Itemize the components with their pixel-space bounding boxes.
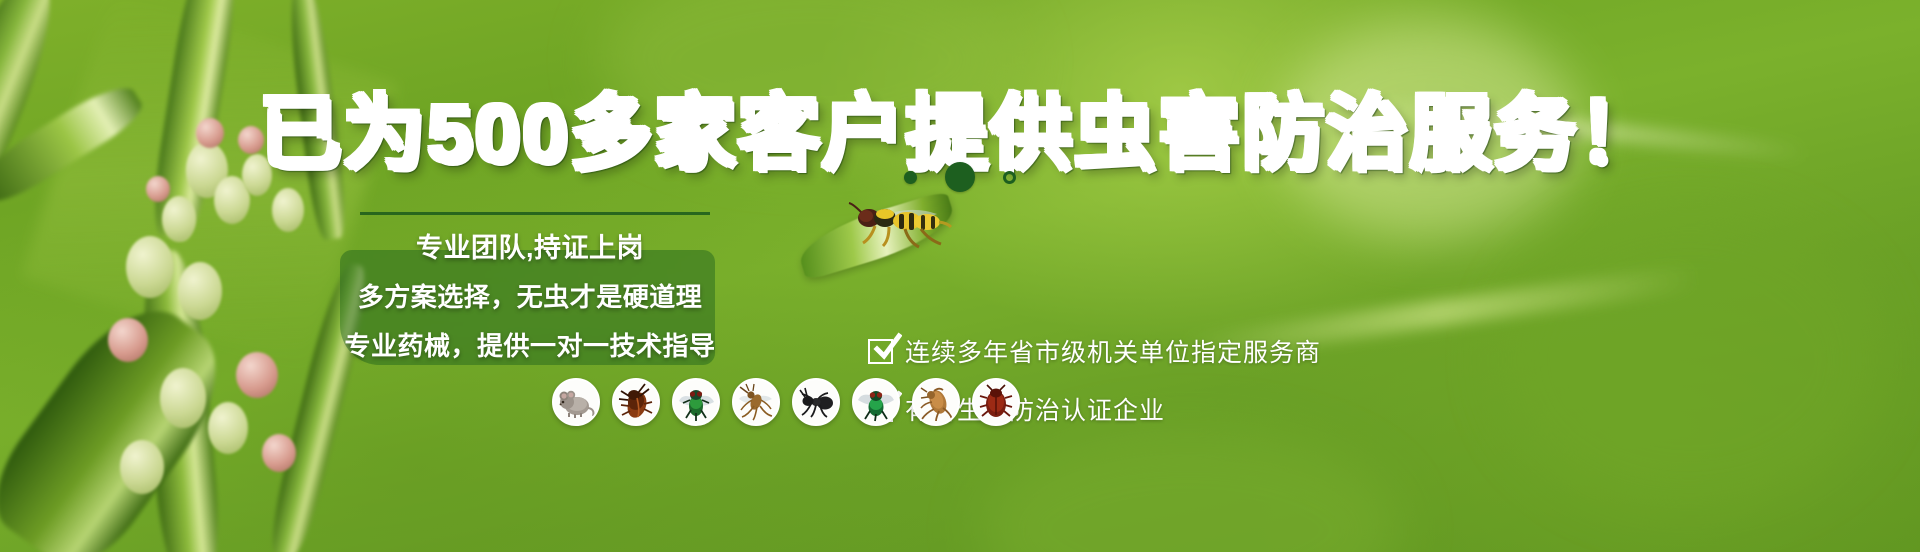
promo-banner: 已为500多家客户提供虫害防治服务！ [0, 0, 1920, 552]
mosquito-icon[interactable] [732, 378, 780, 426]
fly-icon[interactable] [672, 378, 720, 426]
bedbug-icon[interactable] [972, 378, 1020, 426]
credential-label: 连续多年省市级机关单位指定服务商 [905, 333, 1321, 369]
hoverfly-illustration [845, 192, 955, 256]
pest-icon-row [552, 378, 1020, 426]
dot-large-icon [945, 162, 975, 192]
ant-icon[interactable] [792, 378, 840, 426]
decorative-dots [0, 162, 1920, 192]
copy-lines: 专业团队,持证上岗 多方案选择，无虫才是硬道理 专业药械，提供一对一技术指导 [330, 212, 730, 363]
copy-line-1: 专业团队,持证上岗 [416, 226, 644, 265]
checkbox-checked-icon [868, 339, 893, 364]
check-mark-icon [872, 332, 902, 362]
mouse-icon[interactable] [552, 378, 600, 426]
credential-item: 连续多年省市级机关单位指定服务商 [868, 333, 1321, 369]
cockroach-icon[interactable] [612, 378, 660, 426]
dot-ring-icon [1003, 171, 1016, 184]
copy-line-2: 多方案选择，无虫才是硬道理 [358, 277, 703, 314]
dot-small-icon [904, 171, 917, 184]
blowfly-icon[interactable] [852, 378, 900, 426]
flea-icon[interactable] [912, 378, 960, 426]
copy-line-3: 专业药械，提供一对一技术指导 [344, 326, 715, 363]
